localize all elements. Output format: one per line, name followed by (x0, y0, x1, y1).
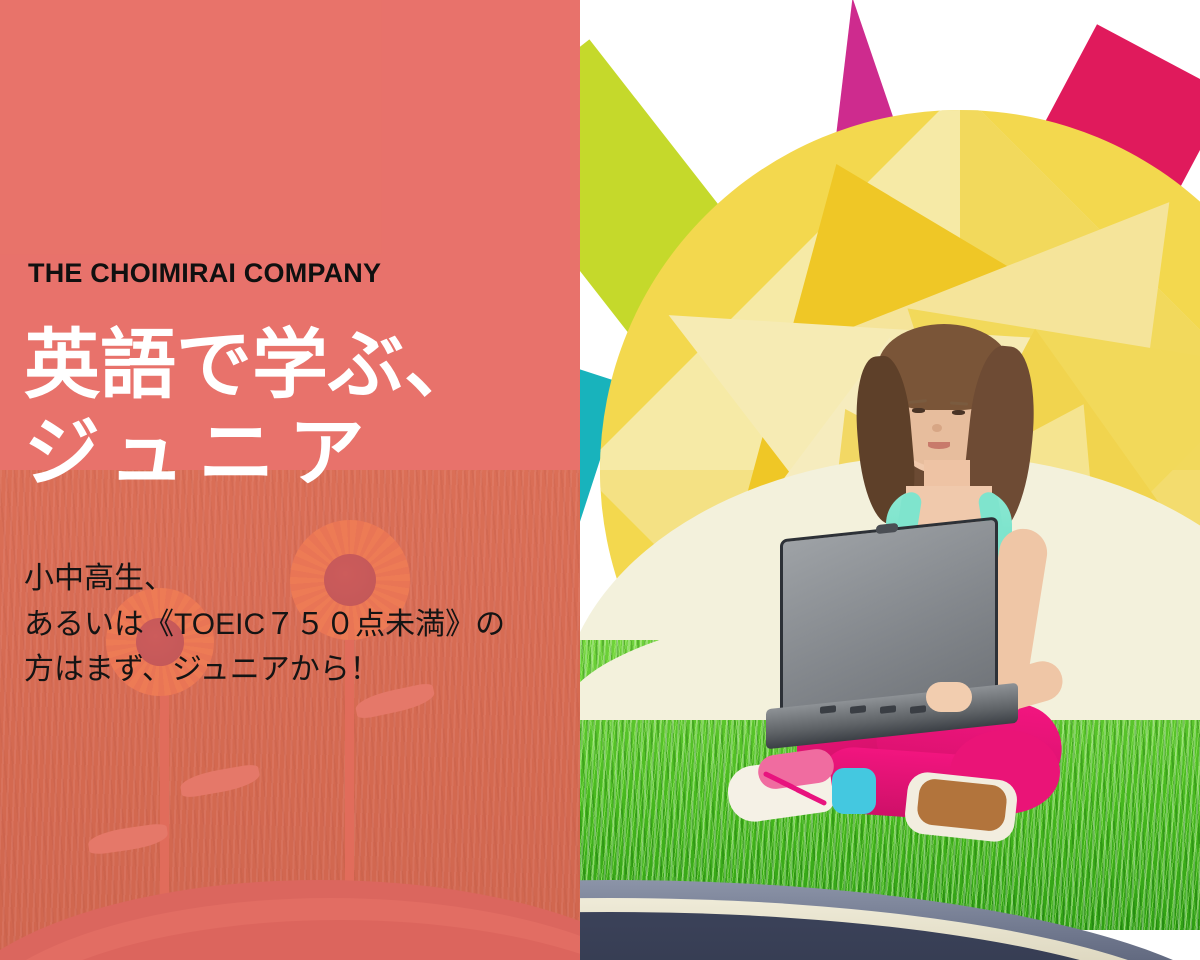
text-panel: THE CHOIMIRAI COMPANY 英語で学ぶ、 ジュニア 小中高生、 … (0, 0, 580, 960)
brand-title: THE CHOIMIRAI COMPANY (28, 258, 381, 289)
body-line-1: 小中高生、 (24, 556, 505, 602)
body-copy: 小中高生、 あるいは《TOEIC７５０点未満》の 方はまず、ジュニアから！ (24, 556, 505, 693)
body-line-3: 方はまず、ジュニアから！ (24, 647, 505, 693)
headline-line-2: ジュニア (24, 410, 480, 498)
headline: 英語で学ぶ、 ジュニア (24, 322, 480, 498)
eye-right (952, 410, 965, 415)
hand (926, 682, 972, 712)
body-line-2: あるいは《TOEIC７５０点未満》の (24, 602, 505, 648)
headline-line-1: 英語で学ぶ、 (24, 323, 480, 408)
sock (832, 768, 876, 814)
nose (932, 424, 942, 432)
sneaker-right-sole (916, 778, 1008, 833)
mouth (928, 442, 950, 449)
eye-left (912, 408, 925, 413)
promo-banner: THE CHOIMIRAI COMPANY 英語で学ぶ、 ジュニア 小中高生、 … (0, 0, 1200, 960)
girl-with-laptop (700, 300, 1130, 860)
